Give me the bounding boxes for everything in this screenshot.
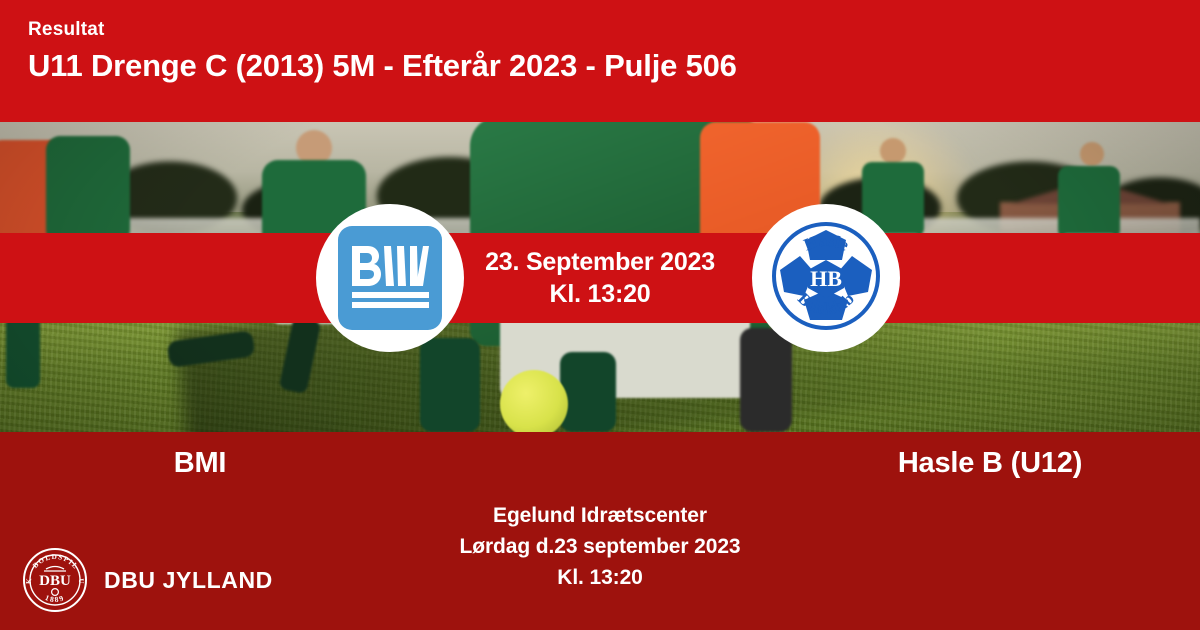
page-title: U11 Drenge C (2013) 5M - Efterår 2023 - … xyxy=(28,44,1200,88)
svg-text:DBU: DBU xyxy=(39,573,71,589)
match-datetime-text: 23. September 2023 Kl. 13:20 xyxy=(0,233,1200,323)
home-team-logo xyxy=(316,204,464,352)
hasle-boldklub-logo: HB Hasle Boldklub xyxy=(766,216,886,341)
svg-text:1889: 1889 xyxy=(44,593,66,604)
match-date: 23. September 2023 xyxy=(485,246,715,278)
home-team-name: BMI xyxy=(0,447,600,480)
footer-brand: DANSK · BOLDSPIL · UNION 1889 DBU DBU JY… xyxy=(22,545,273,615)
match-time: Kl. 13:20 xyxy=(549,278,650,310)
dbu-badge: DANSK · BOLDSPIL · UNION 1889 DBU xyxy=(22,547,88,613)
team-names-row: BMI Hasle B (U12) xyxy=(0,432,1200,494)
venue-name: Egelund Idrætscenter xyxy=(0,500,1200,531)
dbu-organisation-name: DBU JYLLAND xyxy=(104,567,273,594)
bmi-club-logo xyxy=(338,226,442,330)
match-result-poster: Resultat U11 Drenge C (2013) 5M - Efterå… xyxy=(0,0,1200,630)
away-team-logo: HB Hasle Boldklub xyxy=(752,204,900,352)
header-kicker: Resultat xyxy=(28,18,1200,42)
svg-text:HB: HB xyxy=(810,266,842,291)
away-team-name: Hasle B (U12) xyxy=(600,447,1200,480)
poster-header: Resultat U11 Drenge C (2013) 5M - Efterå… xyxy=(0,0,1200,122)
